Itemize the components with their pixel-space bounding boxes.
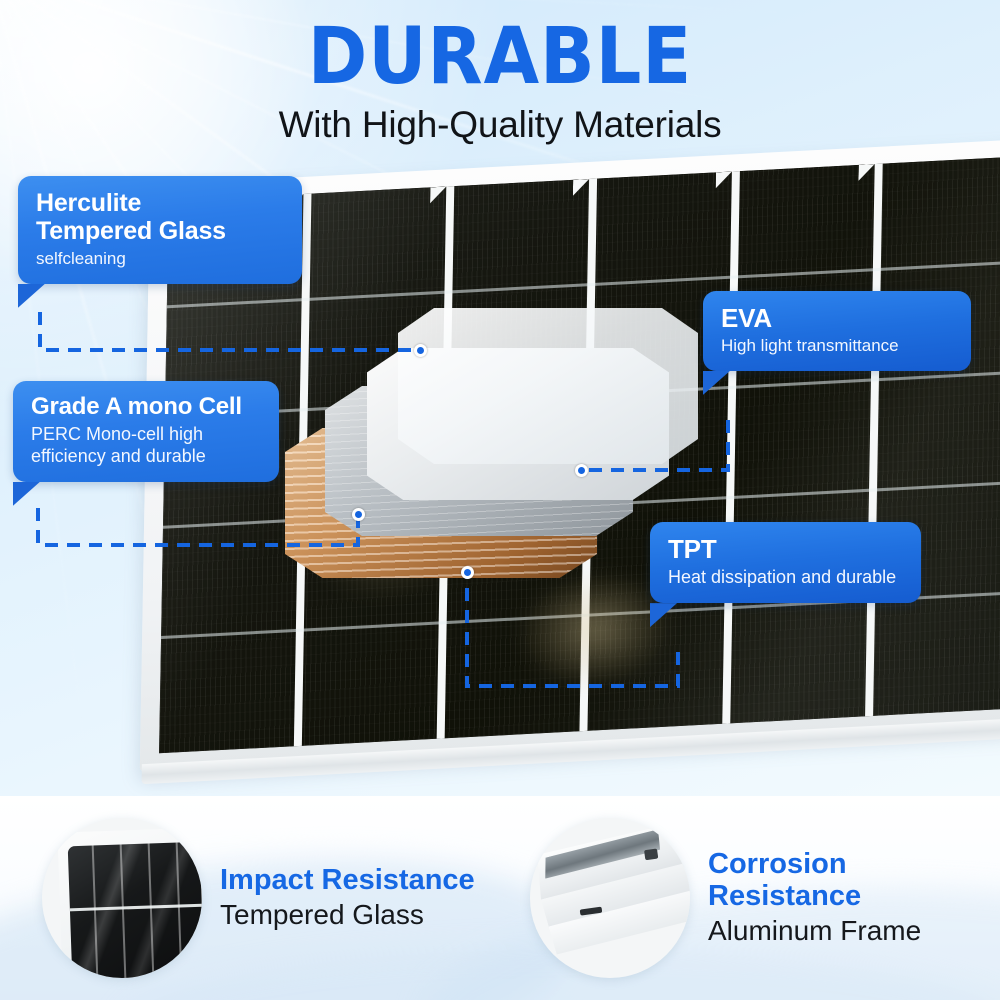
feature-corrosion-resistance[interactable]: Corrosion Resistance Aluminum Frame bbox=[530, 818, 1000, 978]
anchor-dot-cell bbox=[352, 508, 365, 521]
callout-subtitle: PERC Mono-cell high efficiency and durab… bbox=[31, 424, 261, 468]
anchor-dot-glass bbox=[414, 344, 427, 357]
callout-grade-a-mono-cell[interactable]: Grade A mono Cell PERC Mono-cell high ef… bbox=[13, 381, 279, 482]
feature-title: Corrosion Resistance bbox=[708, 849, 1000, 913]
solar-cell-art bbox=[68, 842, 202, 978]
callout-tpt[interactable]: TPT Heat dissipation and durable bbox=[650, 522, 921, 603]
callout-title: TPT bbox=[668, 535, 903, 564]
impact-resistance-photo bbox=[42, 818, 202, 978]
callout-tail bbox=[13, 482, 40, 506]
callout-subtitle: Heat dissipation and durable bbox=[668, 567, 903, 589]
anchor-dot-tpt bbox=[461, 566, 474, 579]
sky-background: HerculiteTempered Glass selfcleaning Gra… bbox=[0, 0, 1000, 796]
callout-title: EVA bbox=[721, 304, 953, 333]
callout-subtitle: selfcleaning bbox=[36, 249, 284, 270]
frame-mounting-hole bbox=[644, 849, 658, 861]
callout-title: Grade A mono Cell bbox=[31, 394, 261, 421]
callout-eva[interactable]: EVA High light transmittance bbox=[703, 291, 971, 371]
infographic-page: HerculiteTempered Glass selfcleaning Gra… bbox=[0, 0, 1000, 1000]
corrosion-resistance-photo bbox=[530, 818, 690, 978]
glass-reflection bbox=[68, 842, 202, 978]
callout-title: HerculiteTempered Glass bbox=[36, 189, 284, 245]
feature-title: Impact Resistance bbox=[220, 865, 475, 897]
header: DURABLE With High-Quality Materials bbox=[0, 0, 1000, 146]
page-title: DURABLE bbox=[40, 20, 960, 94]
page-subtitle: With High-Quality Materials bbox=[0, 104, 1000, 146]
feature-impact-resistance[interactable]: Impact Resistance Tempered Glass bbox=[42, 818, 475, 978]
callout-subtitle: High light transmittance bbox=[721, 336, 953, 357]
anchor-dot-eva bbox=[575, 464, 588, 477]
feature-subtitle: Tempered Glass bbox=[220, 899, 475, 931]
aluminum-frame-art bbox=[530, 818, 690, 978]
feature-text-block: Impact Resistance Tempered Glass bbox=[220, 865, 475, 931]
callout-herculite-tempered-glass[interactable]: HerculiteTempered Glass selfcleaning bbox=[18, 176, 302, 284]
feature-subtitle: Aluminum Frame bbox=[708, 915, 1000, 947]
layer-tempered-glass bbox=[398, 308, 698, 464]
feature-text-block: Corrosion Resistance Aluminum Frame bbox=[708, 849, 1000, 947]
bottom-feature-section: Impact Resistance Tempered Glass Corrosi… bbox=[0, 796, 1000, 1000]
